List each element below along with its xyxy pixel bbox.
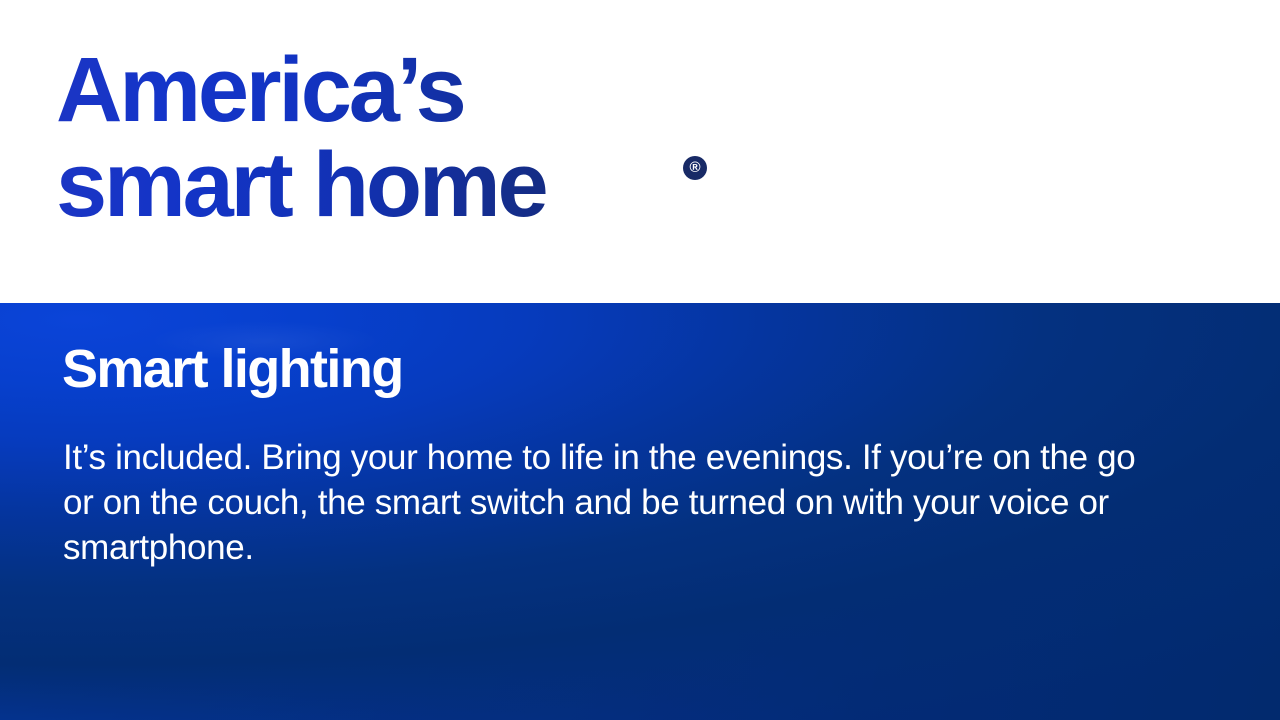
slide-canvas: America’s smart home ® Smart lighting It… (0, 0, 1280, 720)
brand-wordmark: America’s smart home (56, 44, 776, 231)
page-title: Smart lighting (62, 339, 403, 399)
wordmark-line-2: smart home (56, 139, 776, 231)
brand-header-band: America’s smart home ® (0, 0, 1280, 303)
body-description: It’s included. Bring your home to life i… (63, 435, 1173, 570)
feature-panel: Smart lighting It’s included. Bring your… (0, 303, 1280, 720)
registered-trademark-icon: ® (683, 156, 707, 180)
wordmark-line-1: America’s (56, 44, 776, 136)
